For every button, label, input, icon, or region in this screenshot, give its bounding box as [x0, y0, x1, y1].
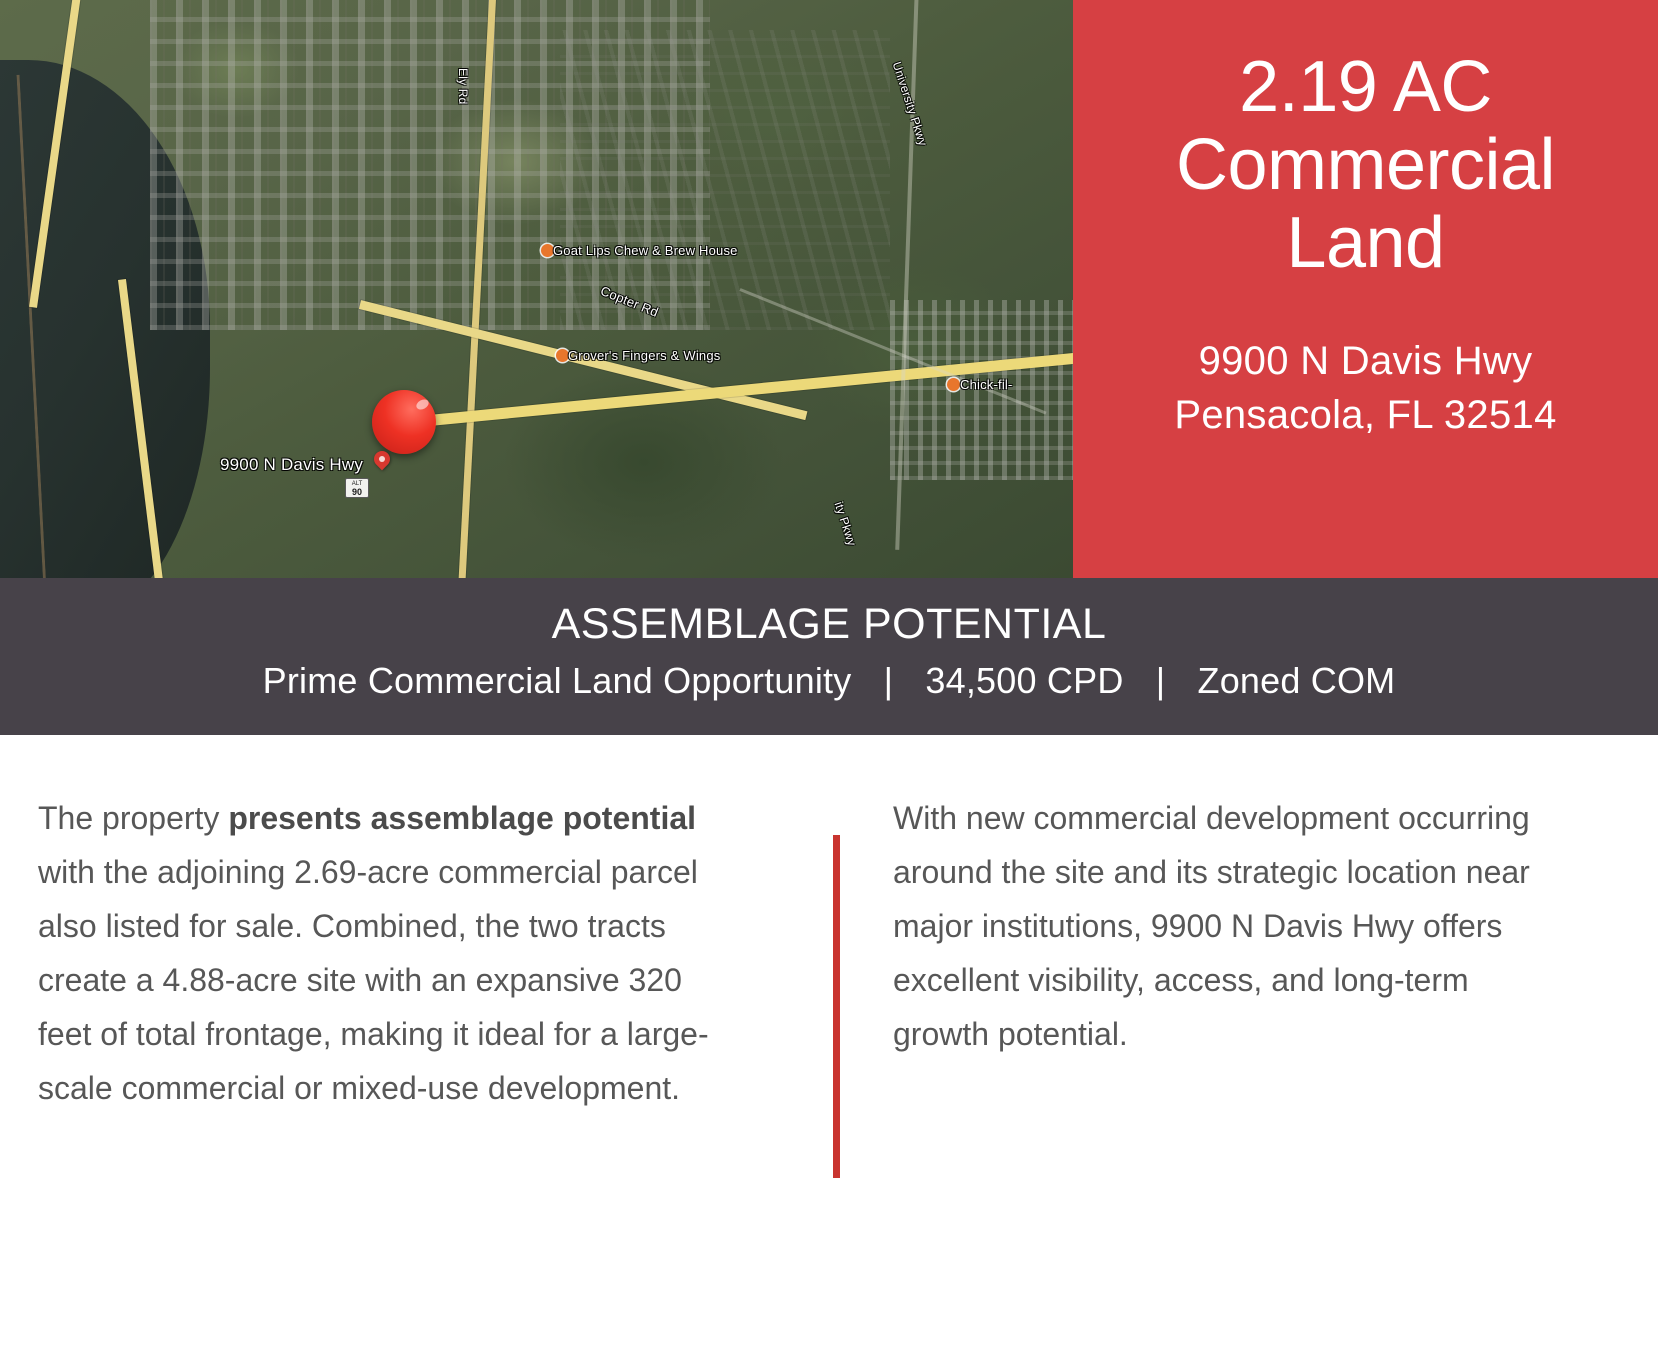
marketing-flyer-page: Goat Lips Chew & Brew House Copter Rd Gr… — [0, 0, 1658, 1347]
headline-type-line2: Land — [1286, 203, 1444, 283]
headline-acreage: 2.19 AC — [1239, 47, 1492, 127]
left-text-bold: presents assemblage potential — [228, 800, 696, 836]
map-label-chick-fil-a: Chick-fil- — [960, 377, 1013, 392]
map-label-site-address: 9900 N Davis Hwy — [220, 455, 363, 475]
aerial-map[interactable]: Goat Lips Chew & Brew House Copter Rd Gr… — [0, 0, 1073, 578]
headline-type-line1: Commercial — [1176, 125, 1555, 205]
description-left-column: The property presents assemblage potenti… — [38, 791, 738, 1115]
banner-stat-opportunity: Prime Commercial Land Opportunity — [263, 660, 852, 701]
restaurant-icon-chick-fil-a — [947, 378, 960, 391]
banner-separator-1: | — [862, 658, 916, 704]
hero-section: Goat Lips Chew & Brew House Copter Rd Gr… — [0, 0, 1658, 578]
page-title: 2.19 AC Commercial Land — [1091, 0, 1640, 282]
shield-number: 90 — [346, 488, 368, 496]
map-label-goat-lips: Goat Lips Chew & Brew House — [553, 243, 738, 258]
left-text-lead: The property — [38, 800, 228, 836]
banner-stats-row: Prime Commercial Land Opportunity | 34,5… — [0, 650, 1658, 704]
column-divider — [833, 835, 840, 1178]
banner-stat-zoning: Zoned COM — [1198, 660, 1396, 701]
description-right-column: With new commercial development occurrin… — [893, 791, 1573, 1061]
banner-stat-traffic-count: 34,500 CPD — [925, 660, 1123, 701]
red-balloon-marker-icon[interactable] — [372, 390, 436, 454]
highway-shield-alt-90: ALT 90 — [345, 478, 369, 498]
address-street: 9900 N Davis Hwy — [1091, 334, 1640, 388]
address-city-state-zip: Pensacola, FL 32514 — [1091, 388, 1640, 442]
map-label-ely-rd: Ely Rd — [456, 68, 470, 105]
assemblage-banner: ASSEMBLAGE POTENTIAL Prime Commercial La… — [0, 578, 1658, 735]
map-label-grovers: Grover's Fingers & Wings — [568, 348, 721, 363]
listing-headline-panel: 2.19 AC Commercial Land 9900 N Davis Hwy… — [1073, 0, 1658, 578]
banner-headline: ASSEMBLAGE POTENTIAL — [0, 578, 1658, 650]
banner-separator-2: | — [1134, 658, 1188, 704]
property-address: 9900 N Davis Hwy Pensacola, FL 32514 — [1091, 334, 1640, 442]
left-text-rest: with the adjoining 2.69-acre commercial … — [38, 854, 709, 1106]
description-section: The property presents assemblage potenti… — [0, 735, 1658, 1347]
